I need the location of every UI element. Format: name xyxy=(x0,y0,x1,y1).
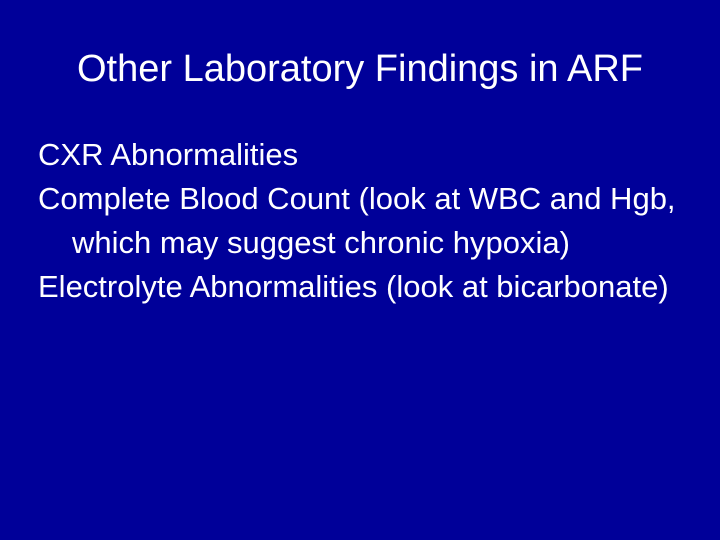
body-line: Electrolyte Abnormalities (look at bicar… xyxy=(38,265,686,309)
presentation-slide: Other Laboratory Findings in ARF CXR Abn… xyxy=(0,0,720,540)
body-line: CXR Abnormalities xyxy=(38,133,686,177)
slide-body-text: CXR Abnormalities Complete Blood Count (… xyxy=(38,133,686,309)
body-line: Complete Blood Count (look at WBC and Hg… xyxy=(38,177,686,265)
page-title: Other Laboratory Findings in ARF xyxy=(0,47,720,91)
